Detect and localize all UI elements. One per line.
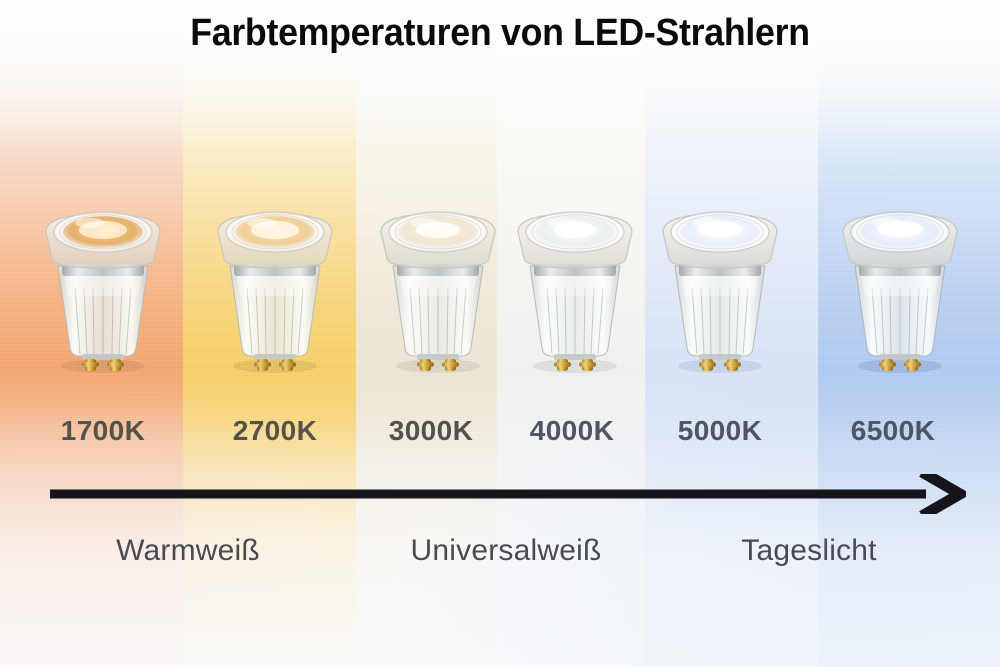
led-bulb-5000k — [645, 196, 795, 381]
kelvin-label-2700k: 2700K — [200, 415, 350, 447]
zone-label-tageslicht: Tageslicht — [709, 534, 909, 568]
led-bulb-4000k — [500, 196, 650, 381]
kelvin-label-5000k: 5000K — [645, 415, 795, 447]
kelvin-label-4000k: 4000K — [497, 415, 647, 447]
led-bulb-1700k — [28, 196, 178, 381]
zone-label-universalweiss: Universalweiß — [376, 534, 636, 568]
kelvin-label-1700k: 1700K — [28, 415, 178, 447]
color-temperature-arrow — [46, 474, 966, 514]
infographic-canvas: Farbtemperaturen von LED-Strahlern — [0, 0, 1000, 667]
led-bulb-2700k — [200, 196, 350, 381]
led-bulb-6500k — [825, 196, 975, 381]
zone-label-warmweiss: Warmweiß — [88, 534, 288, 568]
led-bulb-3000k — [363, 196, 513, 381]
kelvin-label-6500k: 6500K — [818, 415, 968, 447]
kelvin-label-3000k: 3000K — [356, 415, 506, 447]
